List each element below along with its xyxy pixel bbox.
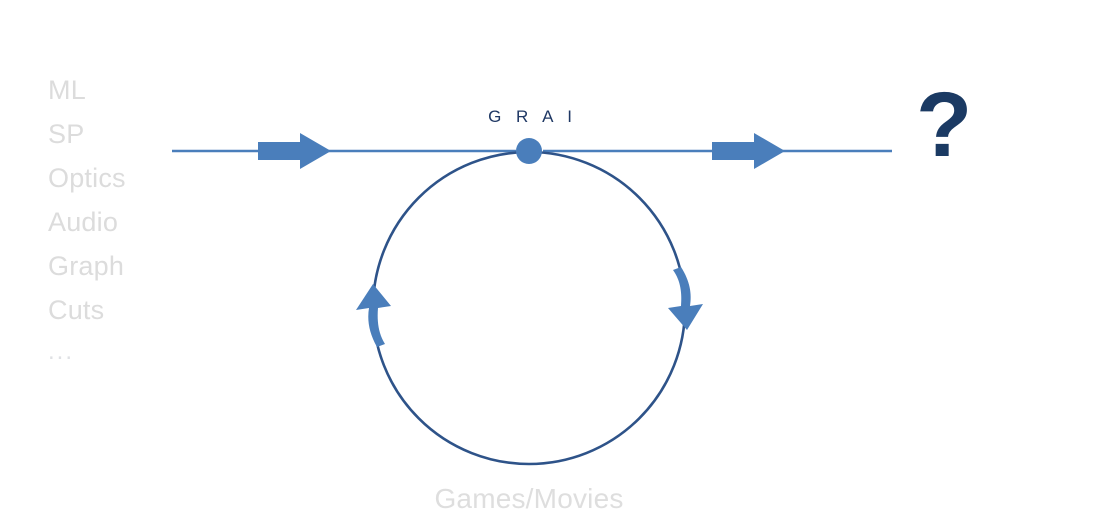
- outbound-flow-arrow: [712, 133, 785, 169]
- diagram-canvas: ML SP Optics Audio Graph Cuts ... G R A …: [0, 0, 1098, 530]
- cycle-arrow-clockwise-right: [668, 267, 703, 330]
- feedback-loop-circle: [373, 152, 685, 464]
- unknown-output-question-mark: ?: [916, 79, 972, 171]
- cycle-arrow-clockwise-left: [356, 284, 391, 347]
- grai-node-dot: [516, 138, 542, 164]
- inbound-flow-arrow: [258, 133, 331, 169]
- cycle-label: Games/Movies: [329, 483, 729, 515]
- grai-node-label: G R A I: [430, 107, 630, 127]
